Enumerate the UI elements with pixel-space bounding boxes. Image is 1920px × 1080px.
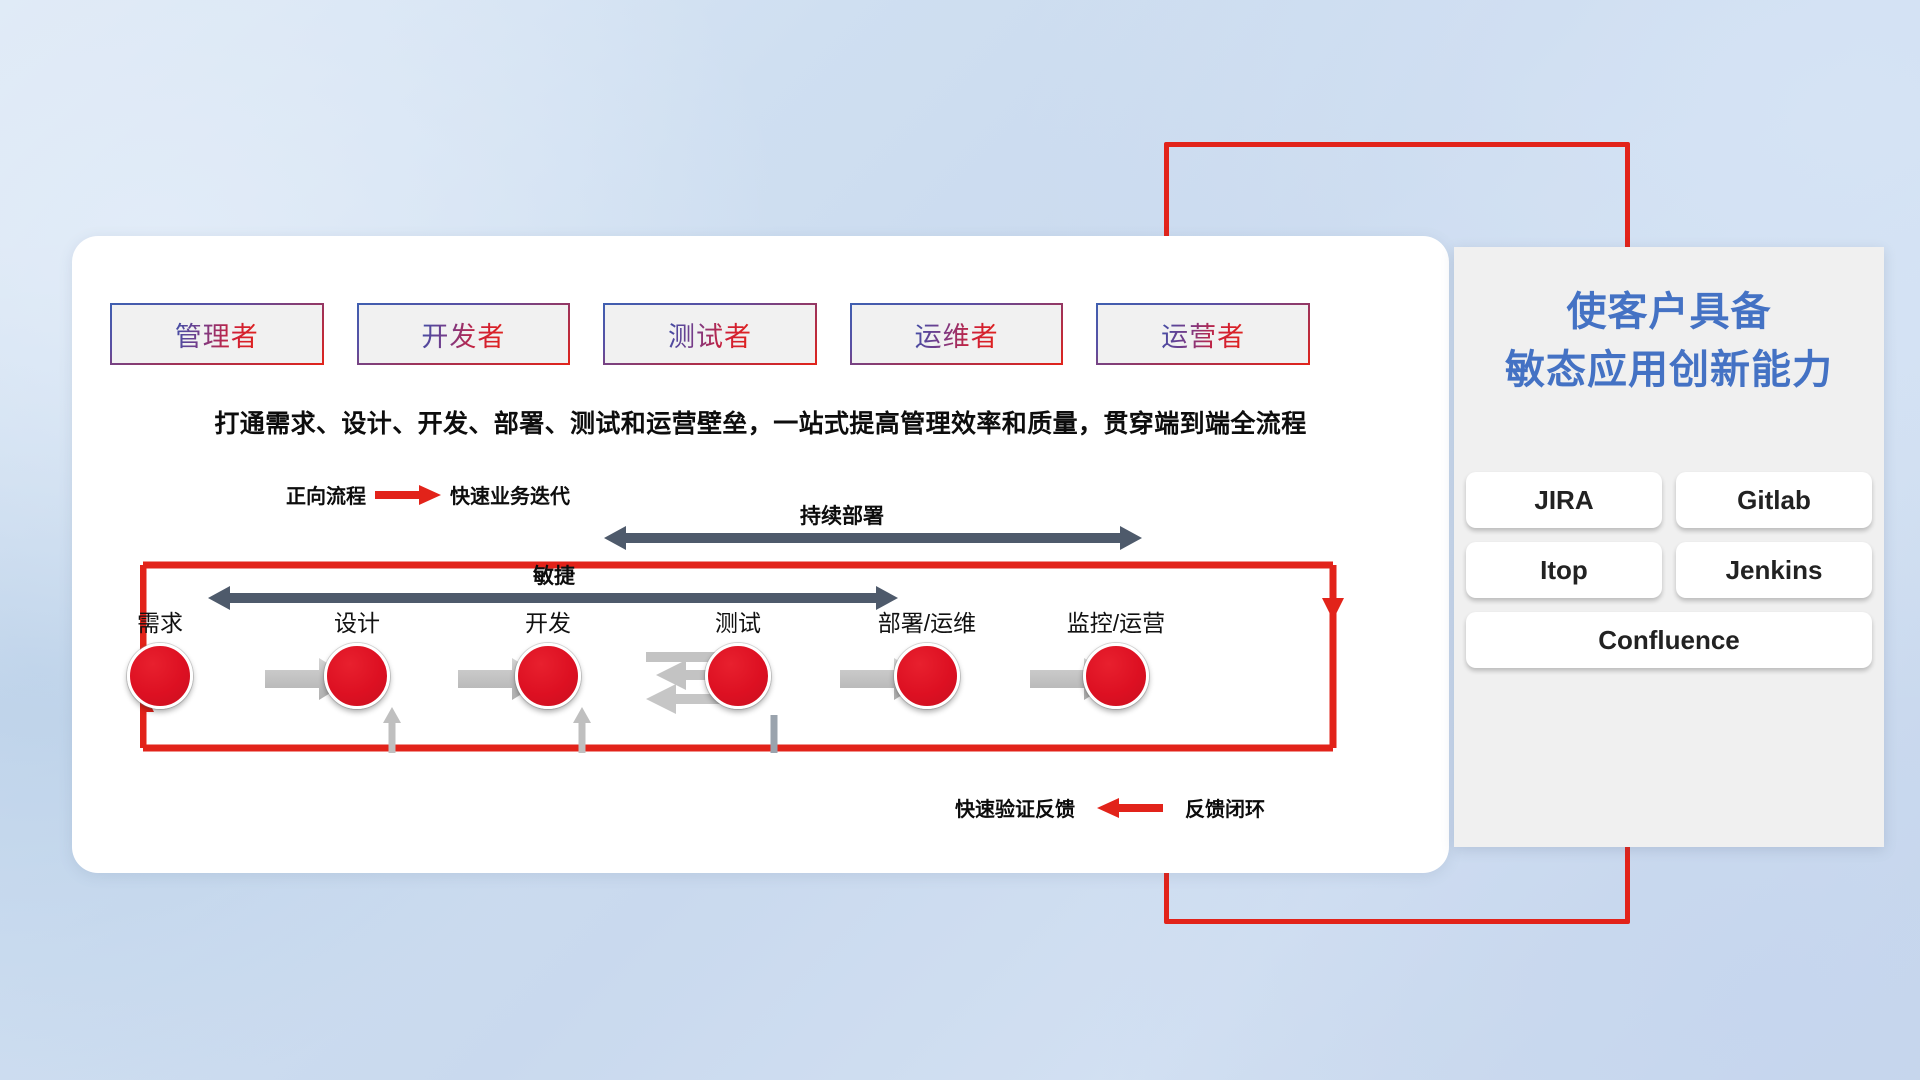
- tool-button-label: Jenkins: [1726, 555, 1823, 586]
- tool-buttons-grid: JIRA Gitlab Itop Jenkins Confluence: [1466, 472, 1872, 668]
- pipeline-stage-requirement[interactable]: 需求: [85, 612, 235, 709]
- slide-canvas: 管理者 开发者 测试者 运维者 运营者 打通需求、设计、开发、部署、测试和运营壁…: [0, 0, 1920, 1080]
- role-label: 管理者: [175, 315, 259, 354]
- span-arrow-continuous-deployment: [604, 525, 1142, 551]
- stage-label: 需求: [85, 612, 235, 635]
- panel-title: 使客户具备 敏态应用创新能力: [1454, 283, 1884, 399]
- tool-button-gitlab[interactable]: Gitlab: [1676, 472, 1872, 528]
- pipeline-stage-testing[interactable]: 测试: [663, 612, 813, 709]
- pipeline-stage-design[interactable]: 设计: [282, 612, 432, 709]
- pipeline-stage-monitor-operations[interactable]: 监控/运营: [1041, 612, 1191, 709]
- tool-button-label: JIRA: [1534, 485, 1593, 516]
- stage-label: 测试: [663, 612, 813, 635]
- stage-dot: [705, 643, 771, 709]
- role-box-manager[interactable]: 管理者: [110, 303, 324, 365]
- devops-pipeline: 需求 设计 开发: [110, 612, 1410, 722]
- stage-dot: [127, 643, 193, 709]
- arrow-right-red-icon: [375, 484, 441, 506]
- tool-button-confluence[interactable]: Confluence: [1466, 612, 1872, 668]
- stage-label: 部署/运维: [852, 612, 1002, 635]
- legend-feedback-loop: 快速验证反馈 反馈闭环: [955, 793, 1265, 822]
- role-box-developer[interactable]: 开发者: [357, 303, 571, 365]
- stage-dot: [894, 643, 960, 709]
- role-box-operations[interactable]: 运营者: [1096, 303, 1310, 365]
- legend-forward-flow: 正向流程 快速业务迭代: [286, 480, 570, 509]
- tool-button-itop[interactable]: Itop: [1466, 542, 1662, 598]
- stage-label: 设计: [282, 612, 432, 635]
- role-label: 开发者: [421, 315, 505, 354]
- tool-button-jira[interactable]: JIRA: [1466, 472, 1662, 528]
- tool-button-label: Itop: [1540, 555, 1588, 586]
- legend-feedback-right-label: 反馈闭环: [1185, 793, 1265, 822]
- role-label: 运维者: [915, 315, 999, 354]
- role-label: 测试者: [668, 315, 752, 354]
- pipeline-stage-deploy-ops[interactable]: 部署/运维: [852, 612, 1002, 709]
- panel-title-line-1: 使客户具备: [1454, 283, 1884, 341]
- span-arrow-agile: [208, 585, 898, 611]
- tool-button-label: Confluence: [1598, 625, 1740, 656]
- legend-feedback-left-label: 快速验证反馈: [955, 793, 1075, 822]
- role-box-ops[interactable]: 运维者: [850, 303, 1064, 365]
- stage-label: 开发: [473, 612, 623, 635]
- legend-forward-right-label: 快速业务迭代: [450, 480, 570, 509]
- tool-button-jenkins[interactable]: Jenkins: [1676, 542, 1872, 598]
- stage-dot: [1083, 643, 1149, 709]
- role-boxes-row: 管理者 开发者 测试者 运维者 运营者: [110, 303, 1310, 367]
- role-label: 运营者: [1161, 315, 1245, 354]
- stage-dot: [324, 643, 390, 709]
- legend-forward-left-label: 正向流程: [286, 480, 366, 509]
- stage-label: 监控/运营: [1041, 612, 1191, 635]
- pipeline-stage-development[interactable]: 开发: [473, 612, 623, 709]
- stage-dot: [515, 643, 581, 709]
- panel-title-line-2: 敏态应用创新能力: [1454, 341, 1884, 399]
- role-box-tester[interactable]: 测试者: [603, 303, 817, 365]
- description-text: 打通需求、设计、开发、部署、测试和运营壁垒，一站式提高管理效率和质量，贯穿端到端…: [72, 404, 1449, 440]
- tool-button-label: Gitlab: [1737, 485, 1811, 516]
- arrow-left-red-icon: [1097, 797, 1163, 819]
